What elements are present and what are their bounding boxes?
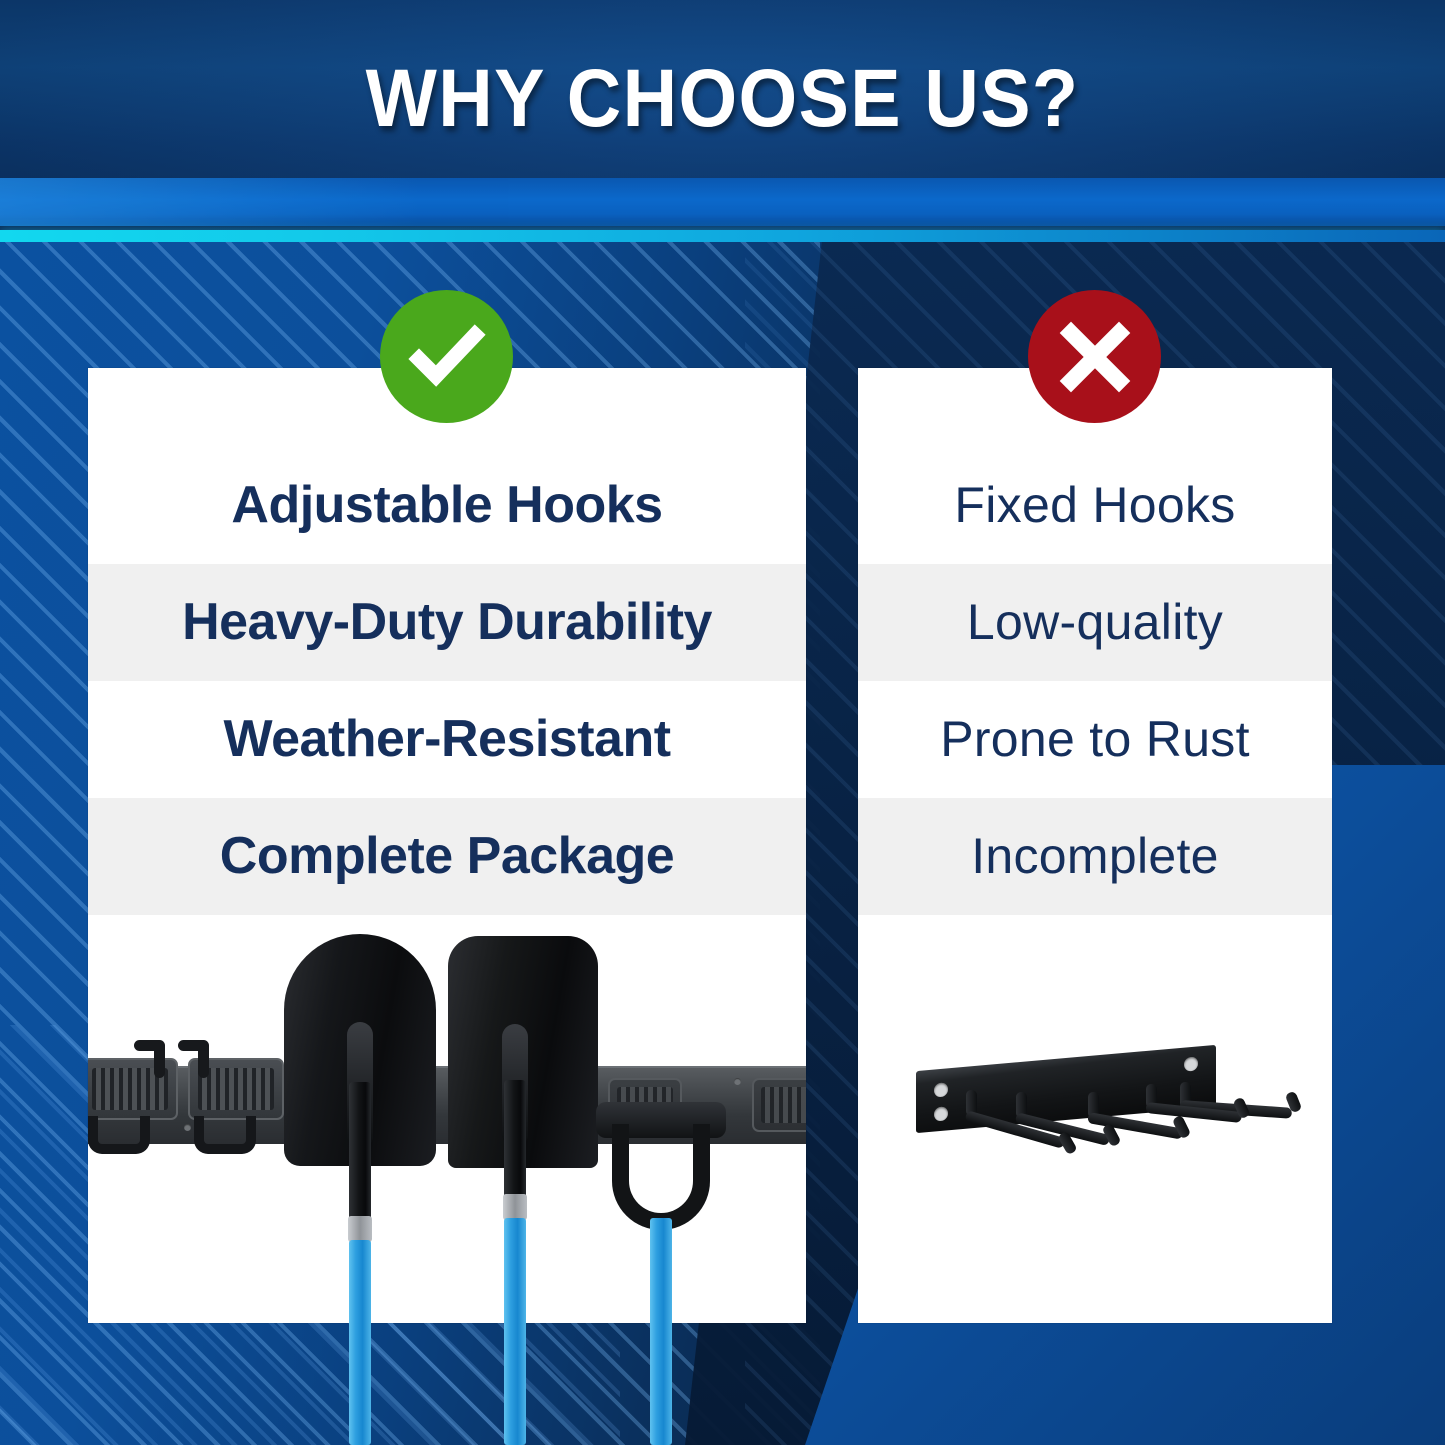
positive-badge <box>380 290 513 423</box>
close-icon <box>1059 321 1131 393</box>
cons-row-label: Fixed Hooks <box>954 479 1235 532</box>
table-row: Prone to Rust <box>858 681 1332 798</box>
rail-slot <box>752 1078 806 1132</box>
cons-row-list: Fixed Hooks Low-quality Prone to Rust In… <box>858 447 1332 915</box>
mounting-hole <box>934 1106 948 1121</box>
mounting-hole <box>1184 1056 1198 1071</box>
pros-row-label: Adjustable Hooks <box>231 478 662 533</box>
table-row: Adjustable Hooks <box>88 447 806 564</box>
table-row: Heavy-Duty Durability <box>88 564 806 681</box>
pros-row-label: Heavy-Duty Durability <box>182 595 712 650</box>
infographic-canvas: WHY CHOOSE US? Adjustable Hooks Heavy-Du… <box>0 0 1445 1445</box>
mounting-hole <box>934 1082 948 1097</box>
cons-row-label: Incomplete <box>971 830 1219 883</box>
table-row: Low-quality <box>858 564 1332 681</box>
page-title: WHY CHOOSE US? <box>58 52 1387 146</box>
table-row: Weather-Resistant <box>88 681 806 798</box>
table-row: Incomplete <box>858 798 1332 915</box>
fixed-hook-wall-rack-image <box>858 1020 1332 1260</box>
rack-mounting-plate <box>916 1045 1216 1133</box>
pros-row-label: Complete Package <box>220 829 674 884</box>
d-handle-grip <box>596 1102 726 1230</box>
table-row: Complete Package <box>88 798 806 915</box>
adjustable-tool-storage-rail-image <box>88 930 806 1445</box>
pros-row-list: Adjustable Hooks Heavy-Duty Durability W… <box>88 447 806 915</box>
header-accent-band <box>0 178 1445 226</box>
header-accent-line <box>0 230 1445 242</box>
pros-row-label: Weather-Resistant <box>223 712 670 767</box>
table-row: Fixed Hooks <box>858 447 1332 564</box>
cons-row-label: Low-quality <box>967 596 1223 649</box>
check-icon <box>405 315 489 399</box>
negative-badge <box>1028 290 1161 423</box>
cons-row-label: Prone to Rust <box>940 713 1250 766</box>
